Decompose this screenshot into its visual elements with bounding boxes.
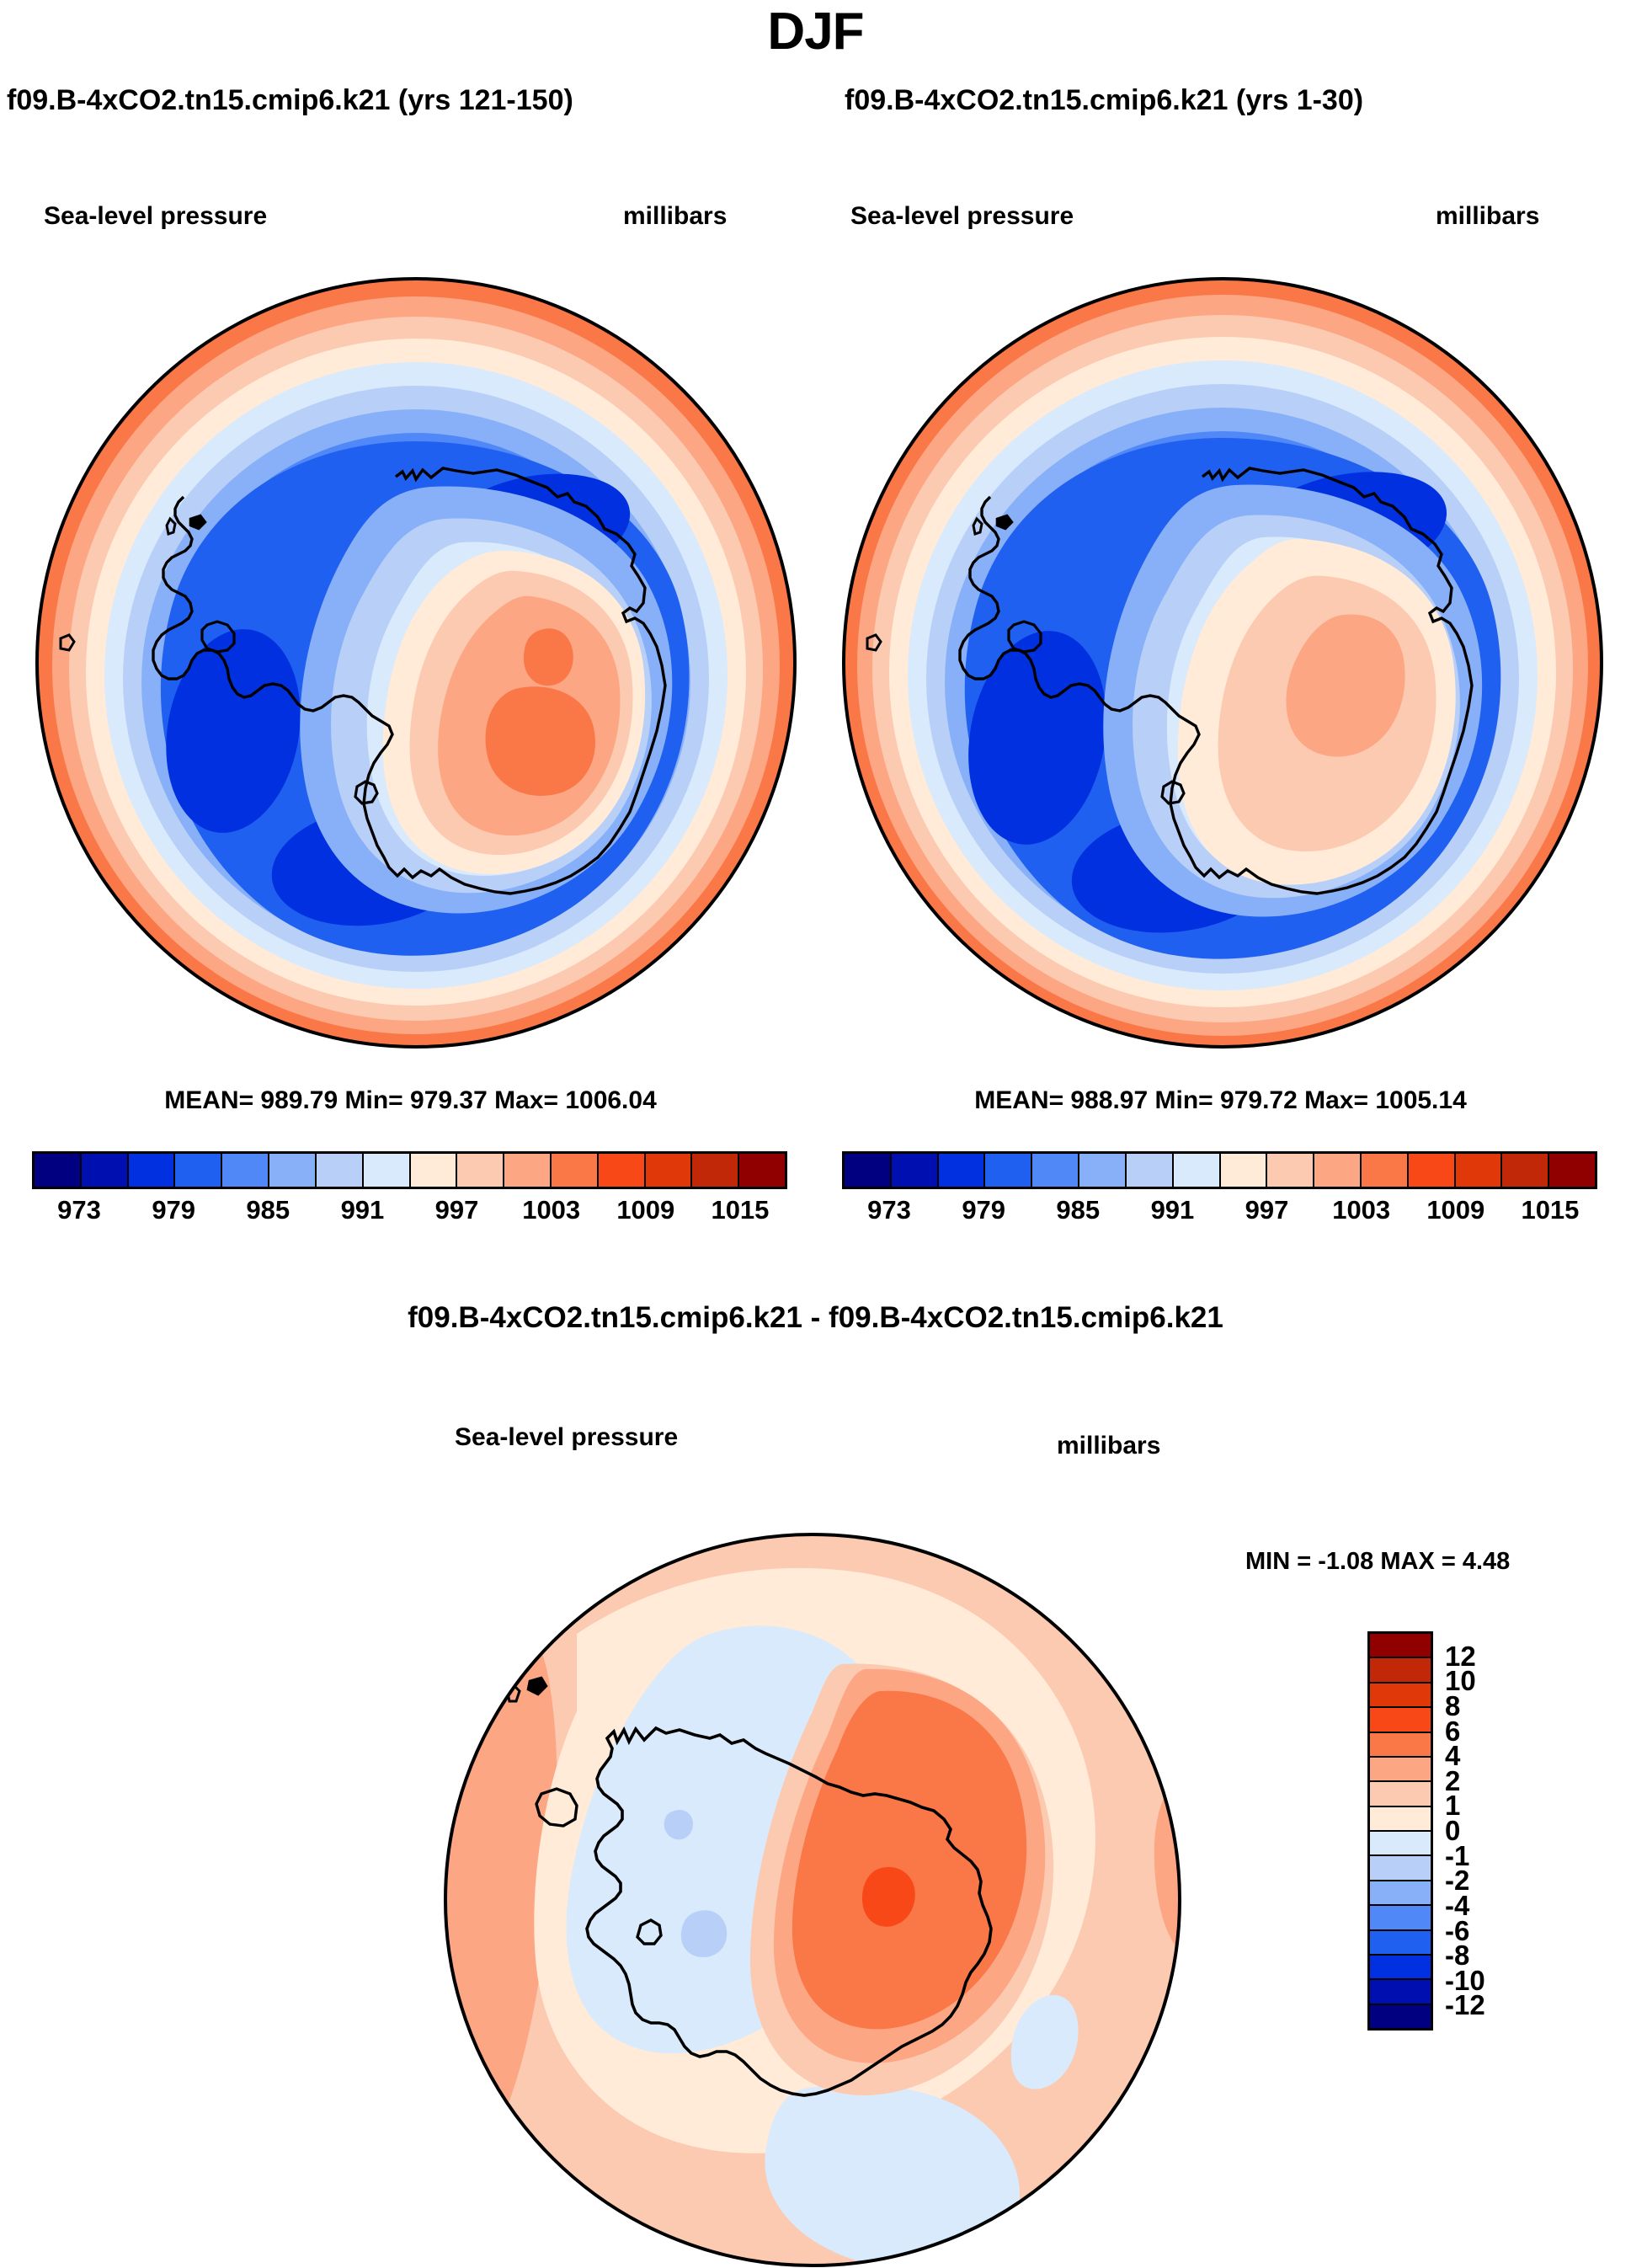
cbar-tick-label: 991 [341,1195,385,1225]
cbar-tick-label: 973 [57,1195,101,1225]
colorbar-cell [1370,1931,1431,1956]
cbar-tick-label: 979 [152,1195,195,1225]
colorbar-cell [1362,1154,1409,1187]
case-title-left: f09.B-4xCO2.tn15.cmip6.k21 (yrs 121-150) [7,84,573,117]
colorbar-cell [1079,1154,1127,1187]
colorbar-cell [1370,1832,1431,1856]
colorbar-left-wrap: 973 979 985 991 997 1003 1009 1015 [32,1151,787,1252]
colorbar-cell [646,1154,693,1187]
colorbar-right-ticks: 973 979 985 991 997 1003 1009 1015 [842,1195,1597,1235]
units-label-right: millibars [1436,202,1539,231]
colorbar-cell [1314,1154,1362,1187]
colorbar-cell [364,1154,411,1187]
colorbar-cell [1370,1658,1431,1683]
colorbar-cell [892,1154,939,1187]
diff-panel-title: f09.B-4xCO2.tn15.cmip6.k21 - f09.B-4xCO2… [0,1301,1631,1335]
colorbar-cell [1127,1154,1174,1187]
case-title-right: f09.B-4xCO2.tn15.cmip6.k21 (yrs 1-30) [845,84,1363,117]
colorbar-cell [1370,1733,1431,1758]
colorbar-diff-ticks: 12 10 8 6 4 2 1 0 -1 -2 -4 -6 -8 -10 -12 [1445,1631,1580,2031]
colorbar-cell [739,1154,785,1187]
colorbar-cell [82,1154,129,1187]
colorbar-cell [1370,1807,1431,1832]
page-title: DJF [0,2,1631,61]
units-label-diff: millibars [1057,1432,1160,1460]
colorbar-cell [1370,2005,1431,2028]
colorbar-cell [35,1154,82,1187]
cbar-tick-label: 1015 [1521,1195,1579,1225]
stats-diff: MIN = -1.08 MAX = 4.48 [1245,1548,1510,1576]
colorbar-cell [1370,1956,1431,1980]
units-label-left: millibars [623,202,727,231]
cbar-tick-label: 985 [1056,1195,1100,1225]
colorbar-cell [222,1154,269,1187]
field-label-diff: Sea-level pressure [455,1423,678,1452]
colorbar-cell [1370,1684,1431,1708]
stats-left: MEAN= 989.79 Min= 979.37 Max= 1006.04 [0,1086,821,1115]
cbar-tick-label: 1009 [1426,1195,1484,1225]
cbar-tick-label: 973 [867,1195,911,1225]
cbar-tick-label: -12 [1445,1989,1485,2021]
colorbar-cell [504,1154,552,1187]
polar-map-diff [442,1533,1183,2267]
stats-right: MEAN= 988.97 Min= 979.72 Max= 1005.14 [810,1086,1631,1115]
colorbar-cell [1502,1154,1549,1187]
colorbar-cell [1370,1758,1431,1782]
cbar-tick-label: 997 [1245,1195,1289,1225]
colorbar-cell [411,1154,458,1187]
polar-map-left [35,276,797,1049]
cbar-tick-label: 1003 [1332,1195,1390,1225]
colorbar-cell [1370,1708,1431,1732]
colorbar-right[interactable] [842,1151,1597,1189]
colorbar-cell [1174,1154,1221,1187]
cbar-tick-label: 991 [1151,1195,1195,1225]
colorbar-cell [1032,1154,1079,1187]
colorbar-diff[interactable] [1367,1631,1433,2031]
colorbar-cell [317,1154,364,1187]
cbar-tick-label: 1015 [711,1195,769,1225]
colorbar-left-ticks: 973 979 985 991 997 1003 1009 1015 [32,1195,787,1235]
colorbar-cell [599,1154,646,1187]
colorbar-cell [1267,1154,1314,1187]
field-label-right: Sea-level pressure [850,202,1074,231]
colorbar-cell [1370,1980,1431,2004]
colorbar-cell [1409,1154,1456,1187]
cbar-tick-label: 985 [246,1195,290,1225]
colorbar-cell [1370,1782,1431,1806]
colorbar-cell [1221,1154,1268,1187]
cbar-tick-label: 1009 [616,1195,674,1225]
polar-map-right [842,276,1604,1049]
colorbar-cell [1370,1634,1431,1658]
cbar-tick-label: 979 [962,1195,1005,1225]
colorbar-cell [175,1154,222,1187]
cbar-tick-label: 997 [435,1195,479,1225]
cbar-tick-label: 1003 [522,1195,580,1225]
colorbar-left[interactable] [32,1151,787,1189]
colorbar-cell [457,1154,504,1187]
colorbar-cell [692,1154,739,1187]
field-label-left: Sea-level pressure [44,202,267,231]
colorbar-cell [1370,1906,1431,1930]
colorbar-cell [985,1154,1032,1187]
colorbar-right-wrap: 973 979 985 991 997 1003 1009 1015 [842,1151,1597,1252]
colorbar-cell [552,1154,599,1187]
colorbar-cell [939,1154,986,1187]
colorbar-cell [845,1154,892,1187]
colorbar-cell [1370,1856,1431,1881]
colorbar-cell [129,1154,176,1187]
colorbar-cell [1549,1154,1595,1187]
colorbar-cell [1456,1154,1503,1187]
colorbar-cell [1370,1881,1431,1906]
colorbar-cell [269,1154,317,1187]
